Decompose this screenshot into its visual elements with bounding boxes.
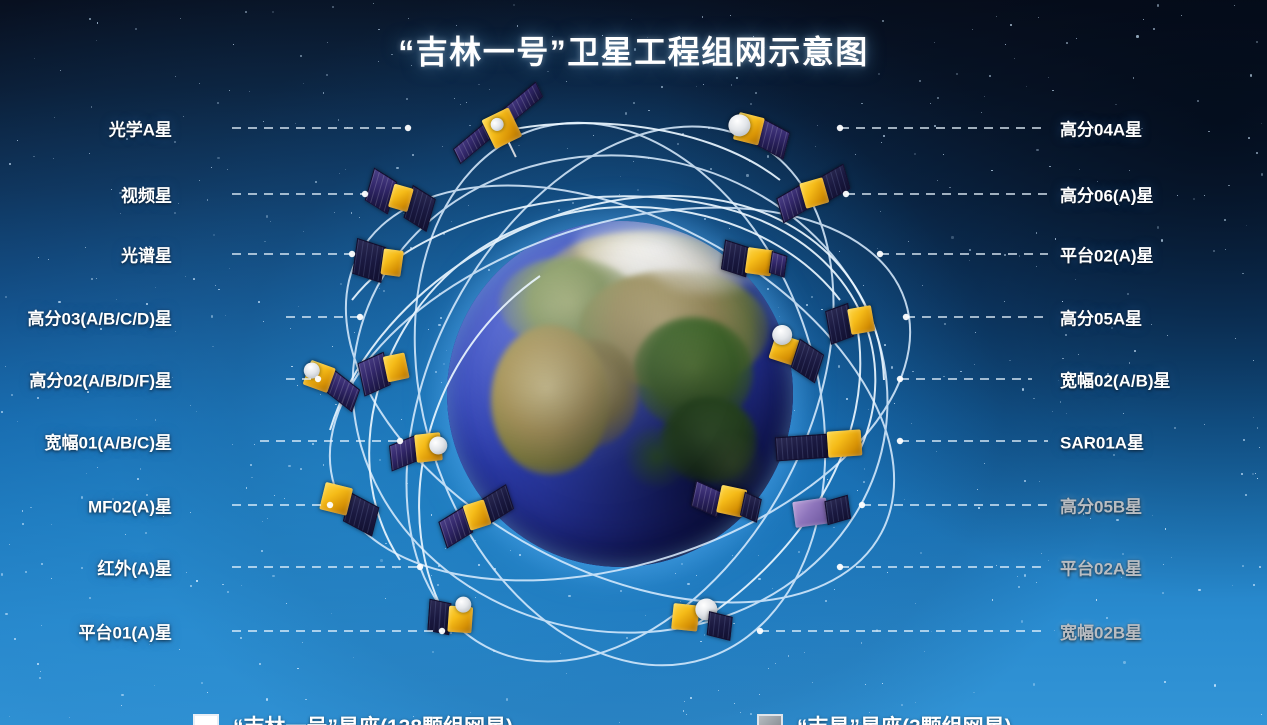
left-label-9: 平台01(A)星	[78, 619, 172, 644]
satellite-video	[359, 162, 443, 241]
right-label-2: 高分06(A)星	[1060, 182, 1154, 207]
left-label-3: 光谱星	[121, 242, 172, 267]
satellite-kf02b	[665, 589, 737, 656]
satellite-gf04a	[711, 95, 796, 180]
left-label-4: 高分03(A/B/C/D)星	[27, 305, 172, 330]
satellite-platform02a-alt	[718, 230, 790, 298]
satellite-mf02	[309, 471, 386, 547]
right-label-1: 高分04A星	[1060, 116, 1142, 141]
right-label-9: 宽幅02B星	[1060, 619, 1142, 644]
legend-swatch-gray-icon	[757, 714, 783, 725]
satellite-kf01	[387, 421, 461, 486]
right-label-5: 宽幅02(A/B)星	[1060, 367, 1171, 392]
right-label-6: SAR01A星	[1060, 429, 1144, 454]
right-label-3: 平台02(A)星	[1060, 242, 1154, 267]
legend-swatch-white-icon	[193, 714, 219, 725]
legend-item-1: “吉林一号”星座(138颗组网星)	[193, 711, 513, 725]
right-label-4: 高分05A星	[1060, 305, 1142, 330]
left-label-2: 视频星	[121, 182, 172, 207]
legend-item-2: “吉星”星座(3颗组网星)	[757, 711, 1012, 725]
satellite-optical-a	[440, 77, 568, 193]
right-label-7: 高分05B星	[1060, 493, 1142, 518]
satellite-platform02a	[791, 482, 856, 544]
infographic-canvas: “吉林一号”卫星工程组网示意图 光学A星视频星光谱星高分03(A/B/C/D)星…	[0, 0, 1267, 725]
satellite-sar01a	[774, 417, 874, 486]
left-label-7: MF02(A)星	[88, 493, 172, 518]
left-label-1: 光学A星	[109, 116, 172, 141]
left-label-5: 高分02(A/B/D/F)星	[29, 367, 172, 392]
satellite-spectral	[349, 232, 412, 293]
page-title: “吉林一号”卫星工程组网示意图	[0, 27, 1267, 73]
legend-label: “吉星”星座(3颗组网星)	[797, 711, 1012, 725]
satellite-gf05a	[821, 289, 891, 360]
left-label-8: 红外(A)星	[97, 555, 172, 580]
satellite-platform01a	[422, 590, 486, 656]
left-label-6: 宽幅01(A/B/C)星	[44, 429, 172, 454]
legend-label: “吉林一号”星座(138颗组网星)	[233, 711, 513, 725]
right-label-8: 平台02A星	[1060, 555, 1142, 580]
